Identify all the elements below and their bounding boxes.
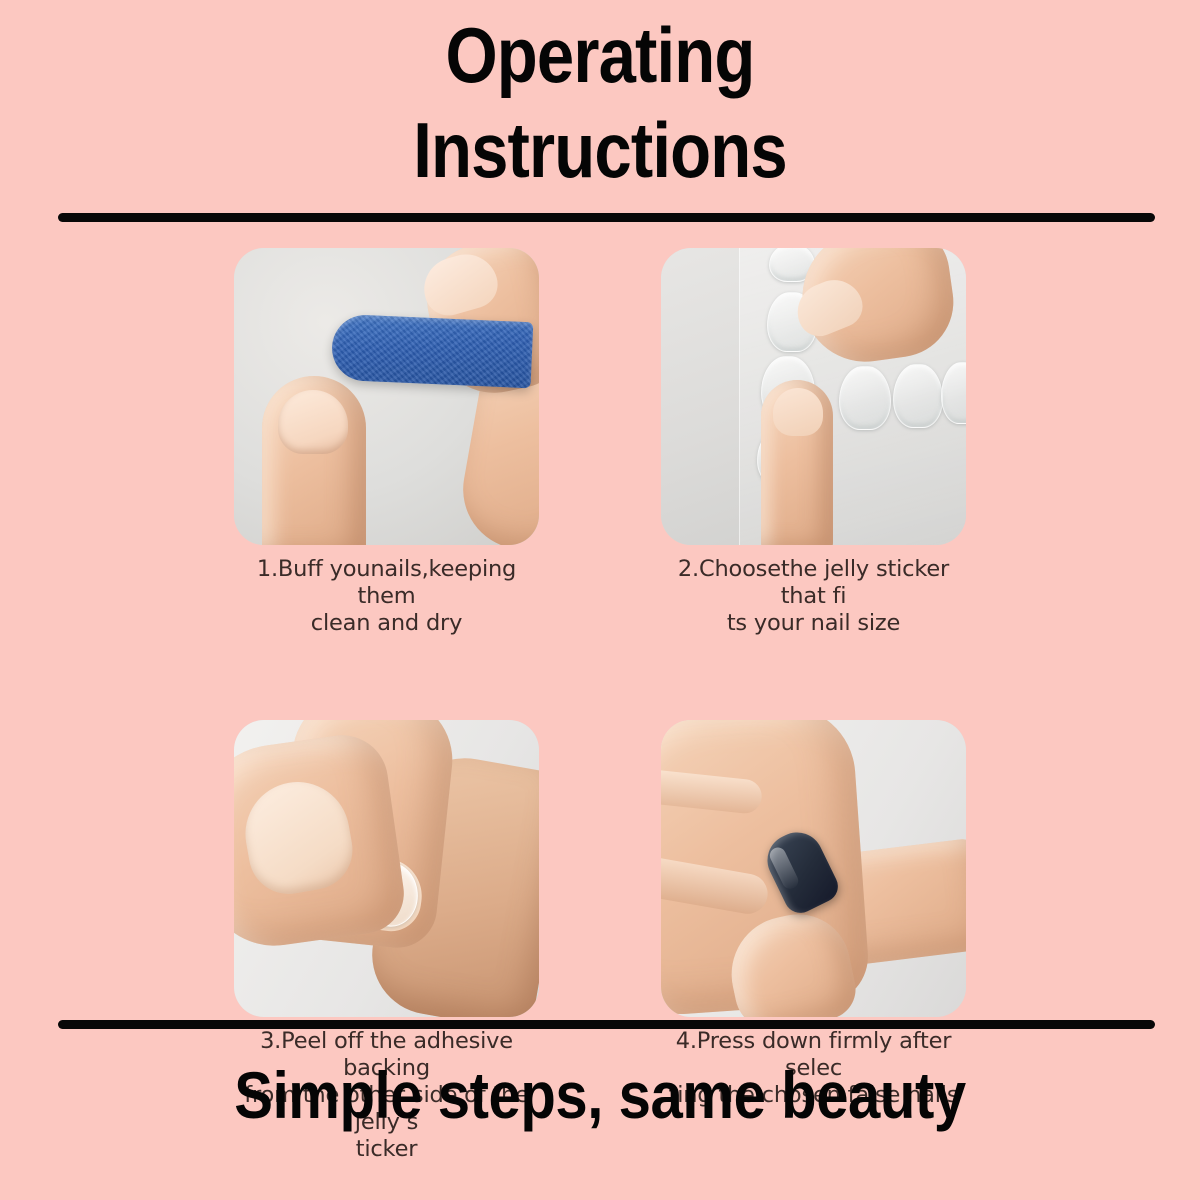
file-grit-texture (331, 314, 534, 389)
knuckle-fold (661, 850, 771, 917)
step-2-caption: 2.Choosethe jelly sticker that fi ts you… (661, 556, 966, 637)
divider-top (58, 213, 1155, 222)
step-1-caption: 1.Buff younails,keeping them clean and d… (234, 556, 539, 637)
jelly-tab-icon (893, 364, 943, 428)
step-1-photo (234, 248, 539, 545)
blue-nail-file-icon (331, 314, 534, 389)
instructions-poster: Operating Instructions 1.Buff younails,k… (0, 0, 1200, 1200)
divider-bottom (58, 1020, 1155, 1029)
finger-nail (278, 390, 348, 454)
step-2: 2.Choosethe jelly sticker that fi ts you… (661, 248, 966, 637)
title-line-2: Instructions (84, 103, 1116, 198)
step-3-photo (234, 720, 539, 1017)
step-1: 1.Buff younails,keeping them clean and d… (234, 248, 539, 637)
knuckle-fold (661, 766, 763, 815)
title-line-1: Operating (84, 8, 1116, 103)
finger-nail (773, 388, 823, 436)
jelly-tab-icon (839, 366, 891, 430)
footer: Simple steps, same beauty (0, 1055, 1200, 1135)
step-4-photo (661, 720, 966, 1017)
step-2-photo (661, 248, 966, 545)
page-title: Operating Instructions (0, 8, 1200, 198)
footer-tagline: Simple steps, same beauty (72, 1055, 1128, 1135)
